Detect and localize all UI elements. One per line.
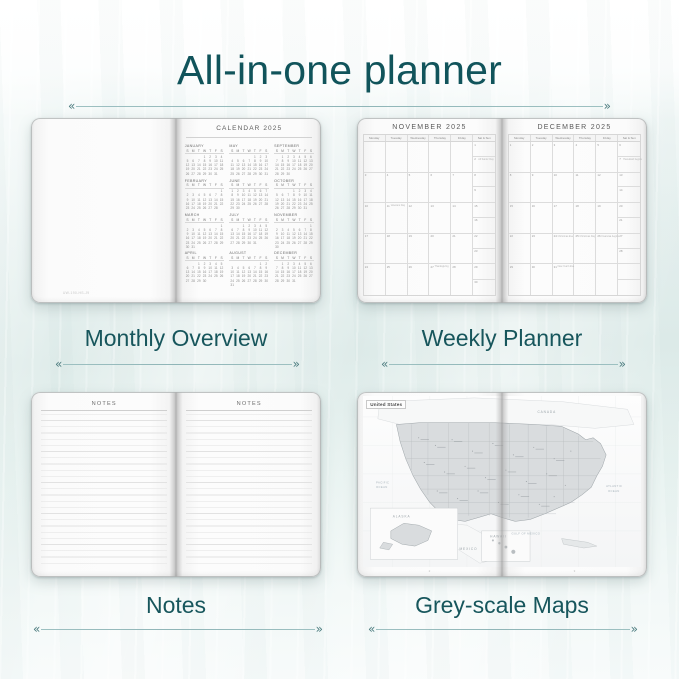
- mini-month-days: 1234567891011121314151617181920212223242…: [274, 224, 314, 249]
- day-number: 12: [409, 204, 412, 208]
- week-row: 1011Veterans Day1213141516: [364, 203, 495, 234]
- week-row: 1234567Hanukkah begins: [509, 142, 640, 173]
- weekend-half-cell[interactable]: 7Hanukkah begins: [618, 157, 640, 172]
- weekend-half-cell[interactable]: 16: [473, 218, 495, 233]
- mini-month-days: 1234567891011121314151617181920212223242…: [274, 155, 314, 176]
- week-row: 15161718192021: [509, 203, 640, 234]
- day-number: 20: [619, 204, 622, 208]
- mini-month: MARCHSMTWTFS1234567891011121314151617181…: [185, 213, 225, 249]
- day-cell[interactable]: 23: [531, 234, 553, 264]
- month-spread-december: DECEMBER 2025 MondayTuesdayWednesdayThur…: [508, 124, 641, 296]
- day-number: 23: [474, 249, 477, 253]
- day-cell[interactable]: 17: [553, 203, 575, 233]
- day-cell[interactable]: [596, 264, 618, 295]
- notes-left-page: NOTES: [31, 392, 176, 577]
- day-cell[interactable]: 21: [451, 234, 473, 264]
- mini-month: NOVEMBERSMTWTFS1234567891011121314151617…: [274, 213, 314, 249]
- day-event-label: New Year's Eve: [558, 265, 575, 268]
- month-grid: 1234567Hanukkah begins891011121314151617…: [508, 142, 641, 296]
- month-spread-november: NOVEMBER 2025 MondayTuesdayWednesdayThur…: [363, 124, 496, 296]
- mini-month: MAYSMTWTFS123456789101112131415161718192…: [229, 144, 269, 177]
- arrow-left-icon: «: [33, 623, 40, 635]
- mini-month-name: JULY: [229, 213, 269, 217]
- day-event-label: Veterans Day: [391, 204, 405, 207]
- week-row: 222324Christmas Eve25Christmas Day26Kwan…: [509, 234, 640, 265]
- day-cell[interactable]: 1314: [618, 173, 640, 203]
- day-cell[interactable]: 7: [451, 173, 473, 203]
- day-number: 20: [430, 234, 433, 238]
- weekday-header: Tuesday: [531, 135, 553, 141]
- ocean-label-atlantic-2: OCEAN: [608, 489, 620, 493]
- day-number: 7: [452, 173, 454, 177]
- day-cell[interactable]: 11Veterans Day: [386, 203, 408, 233]
- month-grid: 12All Saints' Day34567891011Veterans Day…: [363, 142, 496, 296]
- divider-greyscale-maps: « »: [368, 623, 638, 635]
- day-number: 16: [532, 204, 535, 208]
- day-cell[interactable]: 18: [574, 203, 596, 233]
- weekend-half-cell[interactable]: 22: [473, 234, 495, 249]
- notebook-notes[interactable]: NOTES NOTES: [31, 392, 321, 577]
- day-number: 2: [474, 157, 476, 161]
- weekend-half-cell[interactable]: 2All Saints' Day: [473, 157, 495, 172]
- mini-month-weekdays: SMTWTFS: [185, 183, 225, 189]
- day-number: 14: [619, 188, 622, 192]
- day-cell[interactable]: 27Thanksgiving: [429, 264, 451, 295]
- day-number: 7: [619, 157, 621, 161]
- arrow-left-icon: «: [381, 358, 388, 370]
- day-number: 22: [474, 234, 477, 238]
- planner-left-page: NOVEMBER 2025 MondayTuesdayWednesdayThur…: [357, 118, 502, 303]
- mini-month: FEBRUARYSMTWTFS1234567891011121314151617…: [185, 179, 225, 212]
- day-cell[interactable]: 2930: [473, 264, 495, 295]
- day-number: 24: [365, 265, 368, 269]
- mini-month-name: SEPTEMBER: [274, 144, 314, 148]
- page-title: All-in-one planner: [0, 47, 679, 94]
- mini-month-days: 1234567891011121314151617181920212223242…: [229, 224, 269, 245]
- day-number: 31: [554, 265, 557, 269]
- day-event-label: Kwanzaa begins: [601, 235, 619, 238]
- day-cell[interactable]: 10: [553, 173, 575, 203]
- divider-line: [41, 629, 314, 630]
- weekday-header: Sat & Sun: [618, 135, 640, 141]
- day-number: 21: [452, 234, 455, 238]
- arrow-left-icon: «: [68, 100, 75, 112]
- notes-right-page: NOTES: [176, 392, 321, 577]
- day-number: 28: [619, 249, 622, 253]
- mini-month-name: DECEMBER: [274, 251, 314, 255]
- mini-month-name: NOVEMBER: [274, 213, 314, 217]
- day-number: 6: [619, 143, 621, 147]
- day-number: 28: [452, 265, 455, 269]
- day-number: 25: [387, 265, 390, 269]
- day-number: 17: [365, 234, 368, 238]
- calendar-right-page: CALENDAR 2025 JANUARYSMTWTFS123456789101…: [176, 118, 321, 303]
- notebook-weekly-planner[interactable]: NOVEMBER 2025 MondayTuesdayWednesdayThur…: [357, 118, 647, 303]
- week-row: 293031New Year's Eve: [509, 264, 640, 295]
- day-number: 12: [597, 173, 600, 177]
- mini-month-days: 1234567891011121314151617181920212223242…: [229, 262, 269, 287]
- day-cell[interactable]: [429, 142, 451, 172]
- ruled-lines: [41, 414, 167, 564]
- country-label-mexico: MEXICO: [459, 547, 477, 551]
- arrow-right-icon: »: [293, 358, 300, 370]
- weekday-header: Friday: [451, 135, 473, 141]
- day-cell[interactable]: 5: [596, 142, 618, 172]
- day-number: 19: [409, 234, 412, 238]
- ruled-lines: [186, 414, 312, 564]
- mini-month: JUNESMTWTFS12345678910111213141516171819…: [229, 179, 269, 212]
- day-cell[interactable]: 17: [364, 234, 386, 264]
- weekday-header-row: MondayTuesdayWednesdayThursdayFridaySat …: [508, 134, 641, 142]
- weekday-header: Thursday: [574, 135, 596, 141]
- mini-month-days: 1234567891011121314151617181920212223242…: [274, 189, 314, 210]
- day-number: 11: [387, 204, 390, 208]
- day-event-label: All Saints' Day: [478, 158, 493, 161]
- ocean-label-pacific-2: OCEAN: [376, 485, 388, 489]
- weekend-half-cell[interactable]: 23: [473, 249, 495, 264]
- weekday-header: Thursday: [429, 135, 451, 141]
- weekend-half-cell[interactable]: 1: [473, 142, 495, 157]
- day-cell[interactable]: 24Christmas Eve: [553, 234, 575, 264]
- day-cell[interactable]: 30: [531, 264, 553, 295]
- weekend-half-cell[interactable]: 14: [618, 187, 640, 202]
- day-cell[interactable]: 18: [386, 234, 408, 264]
- mini-month-name: JUNE: [229, 179, 269, 183]
- ocean-label-gulf: GULF OF MEXICO: [511, 532, 540, 536]
- notes-heading-rule: [186, 410, 312, 411]
- day-number: 6: [430, 173, 432, 177]
- day-number: 26: [409, 265, 412, 269]
- mini-month-weekdays: SMTWTFS: [185, 149, 225, 155]
- day-number: 23: [532, 234, 535, 238]
- divider-line: [76, 106, 602, 107]
- calendar-heading-rule: [186, 137, 312, 138]
- day-number: 8: [510, 173, 512, 177]
- day-cell[interactable]: 25Christmas Day: [574, 234, 596, 264]
- mini-month-name: FEBRUARY: [185, 179, 225, 183]
- day-number: 21: [619, 218, 622, 222]
- mini-month-weekdays: SMTWTFS: [274, 149, 314, 155]
- mini-month-name: AUGUST: [229, 251, 269, 255]
- day-cell[interactable]: 89: [473, 173, 495, 203]
- caption-monthly-overview: Monthly Overview: [31, 325, 321, 352]
- book-spine: [496, 392, 509, 577]
- month-heading: NOVEMBER 2025: [363, 124, 496, 131]
- mini-month: DECEMBERSMTWTFS1234567891011121314151617…: [274, 251, 314, 287]
- day-cell[interactable]: 26: [408, 264, 430, 295]
- day-cell[interactable]: [364, 142, 386, 172]
- weekday-header: Wednesday: [408, 135, 430, 141]
- day-cell[interactable]: 25: [386, 264, 408, 295]
- day-cell[interactable]: 6: [429, 173, 451, 203]
- mini-month-weekdays: SMTWTFS: [274, 256, 314, 262]
- arrow-right-icon: »: [316, 623, 323, 635]
- mini-month-days: 1234567891011121314151617181920212223242…: [229, 189, 269, 210]
- day-number: 1: [510, 143, 512, 147]
- ocean-label-pacific: PACIFIC: [376, 480, 389, 484]
- day-number: 9: [532, 173, 534, 177]
- day-cell[interactable]: 2223: [473, 234, 495, 264]
- day-number: 3: [554, 143, 556, 147]
- weekend-half-cell[interactable]: [618, 280, 640, 295]
- day-number: 2: [532, 143, 534, 147]
- day-number: 4: [387, 173, 389, 177]
- day-cell[interactable]: 1516: [473, 203, 495, 233]
- weekend-half-cell[interactable]: 27: [618, 234, 640, 249]
- day-cell[interactable]: 24: [364, 264, 386, 295]
- arrow-right-icon: »: [604, 100, 611, 112]
- weekend-half-cell[interactable]: 6: [618, 142, 640, 157]
- day-number: 5: [597, 143, 599, 147]
- notes-heading-rule: [41, 410, 167, 411]
- mini-month-name: MAY: [229, 144, 269, 148]
- day-number: 22: [510, 234, 513, 238]
- day-number: 15: [510, 204, 513, 208]
- notes-sheet: NOTES: [41, 401, 167, 567]
- map-title: United States: [366, 400, 406, 409]
- day-cell[interactable]: 4: [386, 173, 408, 203]
- mini-month-weekdays: SMTWTFS: [229, 218, 269, 224]
- day-number: 16: [474, 218, 477, 222]
- weekday-header: Monday: [509, 135, 531, 141]
- mini-month-weekdays: SMTWTFS: [185, 218, 225, 224]
- day-cell[interactable]: 9: [531, 173, 553, 203]
- day-number: 1: [474, 143, 476, 147]
- weekend-half-cell[interactable]: 20: [618, 203, 640, 218]
- day-cell[interactable]: 2728: [618, 234, 640, 264]
- day-cell[interactable]: 14: [451, 203, 473, 233]
- notes-heading: NOTES: [41, 401, 167, 407]
- day-number: 24: [554, 234, 557, 238]
- weekend-half-cell[interactable]: 8: [473, 173, 495, 188]
- day-number: 13: [619, 173, 622, 177]
- page-number-right: 3: [574, 569, 576, 573]
- weekday-header: Tuesday: [386, 135, 408, 141]
- divider-line: [389, 364, 617, 365]
- mini-month-days: 1234567891011121314151617181920212223242…: [185, 189, 225, 210]
- day-number: 11: [575, 173, 578, 177]
- day-number: 27: [430, 265, 433, 269]
- day-cell[interactable]: 1: [509, 142, 531, 172]
- weekday-header: Wednesday: [553, 135, 575, 141]
- arrow-left-icon: «: [368, 623, 375, 635]
- week-row: 17181920212223: [364, 234, 495, 265]
- day-number: 30: [532, 265, 535, 269]
- weekend-half-cell[interactable]: 13: [618, 173, 640, 188]
- divider-weekly-planner: « »: [381, 358, 626, 370]
- day-number: 3: [365, 173, 367, 177]
- mini-month: JULYSMTWTFS12345678910111213141516171819…: [229, 213, 269, 249]
- day-cell[interactable]: 2: [531, 142, 553, 172]
- notes-sheet: NOTES: [186, 401, 312, 567]
- day-cell[interactable]: 3: [364, 173, 386, 203]
- day-cell[interactable]: 8: [509, 173, 531, 203]
- week-row: 3456789: [364, 173, 495, 204]
- calendar-left-page: UW-190-HS-J9: [31, 118, 176, 303]
- notebook-monthly-overview[interactable]: UW-190-HS-J9 CALENDAR 2025 JANUARYSMTWTF…: [31, 118, 321, 303]
- day-number: 8: [474, 173, 476, 177]
- mini-month-days: 1234567891011121314151617181920212223242…: [274, 262, 314, 283]
- day-cell[interactable]: 13: [429, 203, 451, 233]
- calendar-heading: CALENDAR 2025: [188, 125, 311, 132]
- mini-month: APRILSMTWTFS1234567891011121314151617181…: [185, 251, 225, 287]
- month-heading: DECEMBER 2025: [508, 124, 641, 131]
- day-cell[interactable]: [574, 264, 596, 295]
- mini-month-days: 1234567891011121314151617181920212223242…: [185, 224, 225, 249]
- day-cell[interactable]: 3: [553, 142, 575, 172]
- day-cell[interactable]: [618, 264, 640, 295]
- mini-month-weekdays: SMTWTFS: [274, 218, 314, 224]
- day-number: 25: [575, 234, 578, 238]
- mini-month-weekdays: SMTWTFS: [229, 256, 269, 262]
- day-cell[interactable]: 29: [509, 264, 531, 295]
- weekend-half-cell[interactable]: 15: [473, 203, 495, 218]
- mini-month-weekdays: SMTWTFS: [229, 149, 269, 155]
- ocean-label-atlantic: ATLANTIC: [606, 484, 622, 488]
- planner-right-page: DECEMBER 2025 MondayTuesdayWednesdayThur…: [502, 118, 647, 303]
- day-number: 29: [510, 265, 513, 269]
- day-cell[interactable]: 2021: [618, 203, 640, 233]
- book-spine: [496, 118, 509, 303]
- mini-month-name: JANUARY: [185, 144, 225, 148]
- weekend-half-cell[interactable]: 21: [618, 218, 640, 233]
- day-event-label: Christmas Day: [579, 235, 595, 238]
- arrow-left-icon: «: [55, 358, 62, 370]
- day-number: 15: [474, 204, 477, 208]
- day-cell[interactable]: 26Kwanzaa begins: [596, 234, 618, 264]
- day-event-label: Christmas Eve: [558, 235, 574, 238]
- day-number: 19: [597, 204, 600, 208]
- day-cell[interactable]: 5: [408, 173, 430, 203]
- day-number: 5: [409, 173, 411, 177]
- weekend-half-cell[interactable]: 28: [618, 249, 640, 264]
- mini-month: AUGUSTSMTWTFS123456789101112131415161718…: [229, 251, 269, 287]
- day-cell[interactable]: 12: [408, 203, 430, 233]
- day-cell[interactable]: 19: [596, 203, 618, 233]
- day-cell[interactable]: [386, 142, 408, 172]
- day-cell[interactable]: 12All Saints' Day: [473, 142, 495, 172]
- divider-notes: « »: [33, 623, 323, 635]
- day-cell[interactable]: 10: [364, 203, 386, 233]
- weekend-half-cell[interactable]: [618, 264, 640, 279]
- mini-month-weekdays: SMTWTFS: [185, 256, 225, 262]
- day-number: 17: [554, 204, 557, 208]
- caption-greyscale-maps: Grey-scale Maps: [357, 592, 647, 619]
- day-number: 18: [387, 234, 390, 238]
- country-label-canada: CANADA: [537, 410, 556, 414]
- arrow-right-icon: »: [631, 623, 638, 635]
- infographic-canvas: All-in-one planner « » UW-190-HS-J9 CALE…: [0, 0, 679, 679]
- day-cell[interactable]: 22: [509, 234, 531, 264]
- day-cell[interactable]: 15: [509, 203, 531, 233]
- mini-month-days: 1234567891011121314151617181920212223242…: [229, 155, 269, 176]
- day-cell[interactable]: 28: [451, 264, 473, 295]
- mini-month-name: APRIL: [185, 251, 225, 255]
- mini-month-days: 1234567891011121314151617181920212223242…: [185, 155, 225, 176]
- day-cell[interactable]: 11: [574, 173, 596, 203]
- mini-month-name: OCTOBER: [274, 179, 314, 183]
- divider-line: [376, 629, 629, 630]
- mini-month-name: MARCH: [185, 213, 225, 217]
- day-number: 29: [474, 265, 477, 269]
- caption-notes: Notes: [31, 592, 321, 619]
- divider-top: « »: [68, 100, 611, 112]
- weekend-half-cell[interactable]: 30: [473, 280, 495, 295]
- day-cell[interactable]: 67Hanukkah begins: [618, 142, 640, 172]
- mini-month-weekdays: SMTWTFS: [274, 183, 314, 189]
- day-number: 14: [452, 204, 455, 208]
- week-row: 891011121314: [509, 173, 640, 204]
- day-number: 4: [575, 143, 577, 147]
- notes-heading: NOTES: [186, 401, 312, 407]
- day-cell[interactable]: 4: [574, 142, 596, 172]
- day-number: 30: [474, 280, 477, 284]
- day-event-label: Hanukkah begins: [623, 158, 641, 161]
- day-cell[interactable]: 12: [596, 173, 618, 203]
- day-cell[interactable]: 16: [531, 203, 553, 233]
- weekend-half-cell[interactable]: 29: [473, 264, 495, 279]
- day-number: 9: [474, 188, 476, 192]
- day-cell[interactable]: 19: [408, 234, 430, 264]
- divider-monthly-overview: « »: [55, 358, 300, 370]
- page-number-left: 2: [429, 569, 431, 573]
- weekend-half-cell[interactable]: 9: [473, 187, 495, 202]
- weekday-header-row: MondayTuesdayWednesdayThursdayFridaySat …: [363, 134, 496, 142]
- week-row: 12All Saints' Day: [364, 142, 495, 173]
- mini-month: JANUARYSMTWTFS12345678910111213141516171…: [185, 144, 225, 177]
- weekday-header: Friday: [596, 135, 618, 141]
- day-number: 27: [619, 234, 622, 238]
- weekday-header: Monday: [364, 135, 386, 141]
- week-row: 24252627Thanksgiving282930: [364, 264, 495, 295]
- book-spine: [170, 392, 183, 577]
- book-spine: [170, 118, 183, 303]
- day-cell[interactable]: 31New Year's Eve: [553, 264, 575, 295]
- day-number: 10: [365, 204, 368, 208]
- day-number: 26: [597, 234, 600, 238]
- weekday-header: Sat & Sun: [473, 135, 495, 141]
- day-number: 13: [430, 204, 433, 208]
- day-number: 18: [575, 204, 578, 208]
- day-cell[interactable]: [451, 142, 473, 172]
- mini-month-weekdays: SMTWTFS: [229, 183, 269, 189]
- day-cell[interactable]: 20: [429, 234, 451, 264]
- arrow-right-icon: »: [619, 358, 626, 370]
- page-footer-code: UW-190-HS-J9: [63, 291, 90, 295]
- mini-month-days: 1234567891011121314151617181920212223242…: [185, 262, 225, 283]
- mini-month: SEPTEMBERSMTWTFS123456789101112131415161…: [274, 144, 314, 177]
- mini-calendar-grid: JANUARYSMTWTFS12345678910111213141516171…: [185, 144, 314, 287]
- divider-line: [63, 364, 291, 365]
- day-cell[interactable]: [408, 142, 430, 172]
- day-event-label: Thanksgiving: [434, 265, 448, 268]
- inset-label-alaska: ALASKA: [392, 515, 410, 519]
- caption-weekly-planner: Weekly Planner: [357, 325, 647, 352]
- day-number: 10: [554, 173, 557, 177]
- notebook-greyscale-maps[interactable]: ALASKA HAWAII PACIFIC OCEAN ATLANTIC OCE…: [357, 392, 647, 577]
- mini-month: OCTOBERSMTWTFS12345678910111213141516171…: [274, 179, 314, 212]
